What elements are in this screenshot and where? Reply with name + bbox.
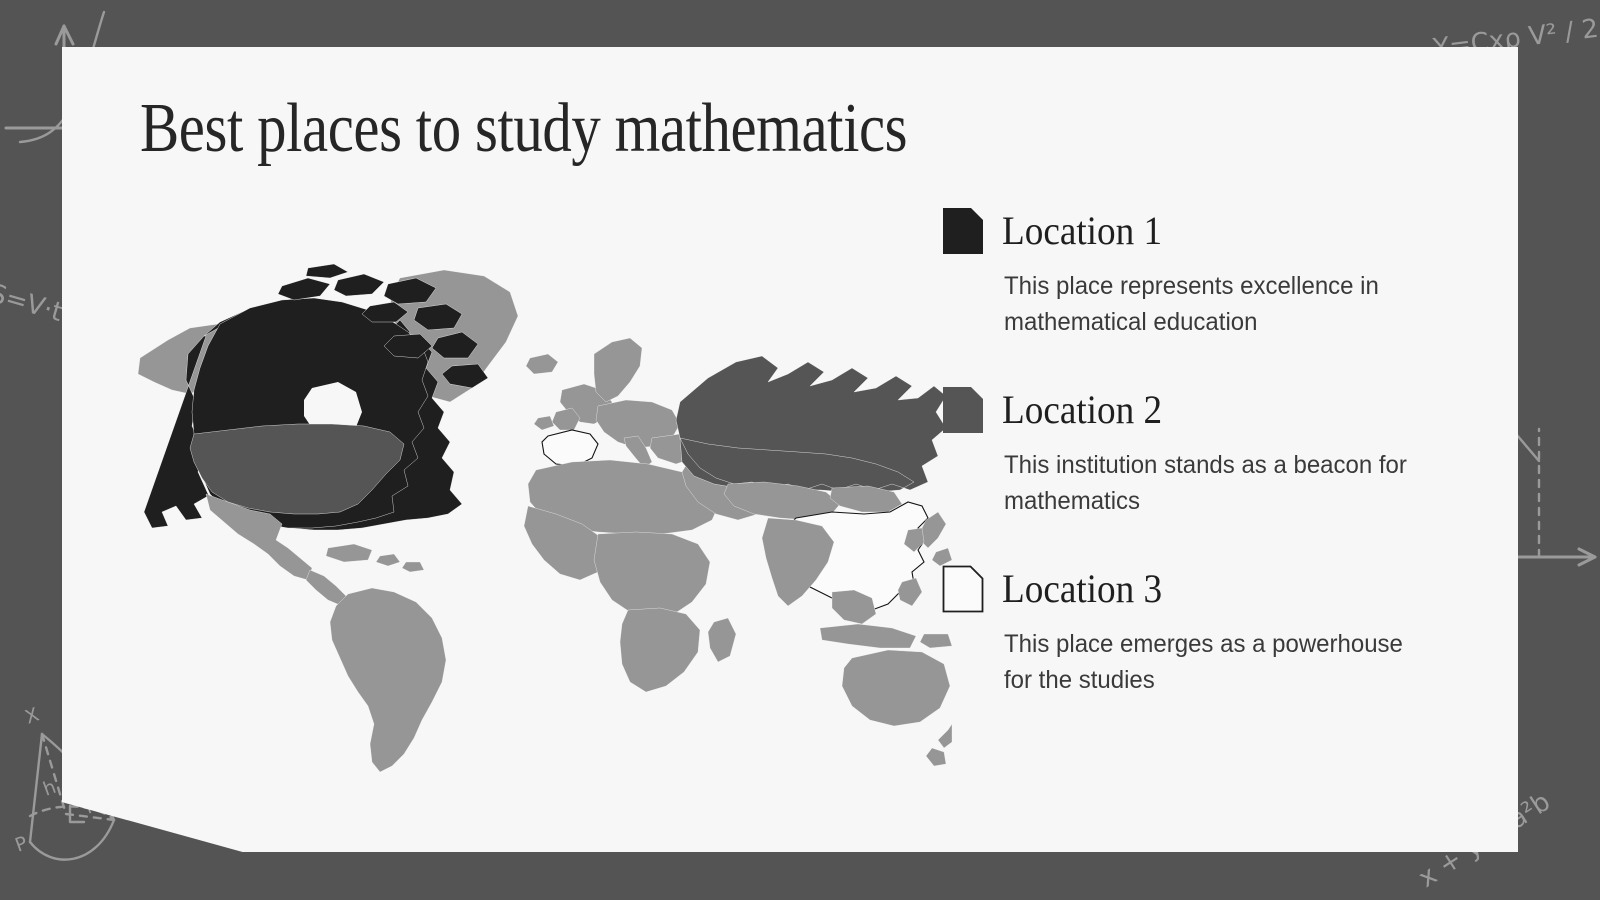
legend-item-3-label: Location 3 (1002, 569, 1162, 609)
legend-item-2-header: Location 2 (942, 386, 1462, 434)
legend-spacer-1 (942, 344, 1462, 386)
map-country-madagascar (708, 618, 736, 662)
map-country-iceland (526, 354, 558, 374)
legend-list: Location 1 This place represents excelle… (942, 207, 1462, 702)
map-country-new-zealand (926, 724, 952, 766)
legend-spacer-2 (942, 523, 1462, 565)
map-country-scandinavia (594, 338, 642, 402)
page-shape-filled-gray-icon (942, 386, 984, 434)
legend-item-3-header: Location 3 (942, 565, 1462, 613)
chalk-cone-label-p: P (12, 832, 30, 857)
legend-item-1-label: Location 1 (1002, 211, 1162, 251)
legend-item-2-description: This institution stands as a beacon for … (1004, 448, 1417, 519)
chalk-cone-label-x: X (22, 704, 42, 729)
legend-item-2-label: Location 2 (1002, 390, 1162, 430)
map-country-southern-africa (620, 608, 700, 692)
legend-item-location-3[interactable]: Location 3 This place emerges as a power… (942, 565, 1462, 698)
chalk-cone-label-h: h (40, 776, 59, 801)
legend-item-1-header: Location 1 (942, 207, 1462, 255)
map-country-spain (542, 430, 598, 466)
legend-item-1-description: This place represents excellence in math… (1004, 269, 1417, 340)
map-country-russia (676, 356, 946, 492)
page-title: Best places to study mathematics (140, 89, 907, 169)
map-country-indonesia (820, 624, 952, 648)
page-shape-filled-dark-icon (942, 207, 984, 255)
map-country-central-america (306, 570, 346, 606)
page-shape-outlined-icon (942, 565, 984, 613)
map-country-central-africa (594, 532, 710, 618)
legend-item-3-description: This place emerges as a powerhouse for t… (1004, 627, 1417, 698)
map-country-british-isles (534, 408, 580, 430)
slide-card: Best places to study mathematics (62, 47, 1518, 852)
slide-canvas: Y=Cxρ V² / 2 S S=V·t X (0, 0, 1600, 900)
world-map-svg (132, 262, 952, 782)
chalk-formula-left-text: S=V·t (0, 279, 66, 328)
map-country-caribbean (326, 544, 424, 572)
legend-item-location-2[interactable]: Location 2 This institution stands as a … (942, 386, 1462, 519)
map-country-south-america (330, 588, 446, 772)
map-country-australia (842, 650, 950, 726)
legend-item-location-1[interactable]: Location 1 This place represents excelle… (942, 207, 1462, 340)
world-map (132, 262, 952, 782)
